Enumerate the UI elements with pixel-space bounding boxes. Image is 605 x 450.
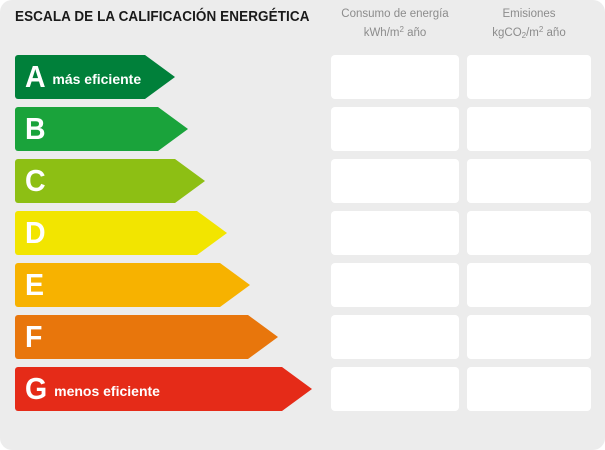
rating-band-g: Gmenos eficiente	[15, 367, 282, 411]
consumo-value-cell-g[interactable]	[331, 367, 459, 411]
consumo-value-cell-c[interactable]	[331, 159, 459, 203]
consumo-value-cell-e[interactable]	[331, 263, 459, 307]
rating-band-a: Amás eficiente	[15, 55, 145, 99]
rating-row-e: E	[0, 263, 605, 307]
rating-letter-c: C	[25, 165, 46, 196]
rating-band-c: C	[15, 159, 175, 203]
arrow-tip-icon-g	[282, 367, 312, 411]
rating-band-e: E	[15, 263, 220, 307]
consumo-value-cell-d[interactable]	[331, 211, 459, 255]
column-header-consumo-unit: kWh/m2 año	[331, 22, 459, 41]
emisiones-value-cell-e[interactable]	[467, 263, 591, 307]
rating-letter-a: A	[25, 61, 46, 92]
rating-row-b: B	[0, 107, 605, 151]
emisiones-value-cell-d[interactable]	[467, 211, 591, 255]
emisiones-value-cell-a[interactable]	[467, 55, 591, 99]
consumo-value-cell-b[interactable]	[331, 107, 459, 151]
emisiones-value-cell-g[interactable]	[467, 367, 591, 411]
arrow-tip-icon-f	[248, 315, 278, 359]
arrow-tip-icon-b	[158, 107, 188, 151]
rating-letter-d: D	[25, 217, 46, 248]
column-header-emisiones: Emisiones kgCO2/m2 año	[467, 7, 591, 43]
rating-letter-b: B	[25, 113, 46, 144]
rating-letter-g: G	[25, 373, 47, 404]
efficiency-label-a: más eficiente	[52, 71, 141, 87]
consumo-value-cell-f[interactable]	[331, 315, 459, 359]
rating-row-d: D	[0, 211, 605, 255]
arrow-tip-icon-d	[197, 211, 227, 255]
column-header-emisiones-unit: kgCO2/m2 año	[467, 22, 591, 43]
column-header-consumo-line1: Consumo de energía	[341, 8, 448, 20]
efficiency-label-g: menos eficiente	[54, 383, 160, 399]
rating-row-a: Amás eficiente	[0, 55, 605, 99]
rating-letter-e: E	[25, 269, 44, 300]
arrow-tip-icon-c	[175, 159, 205, 203]
arrow-tip-icon-a	[145, 55, 175, 99]
rating-row-g: Gmenos eficiente	[0, 367, 605, 411]
column-header-emisiones-line1: Emisiones	[502, 8, 555, 20]
rating-band-d: D	[15, 211, 197, 255]
rating-band-f: F	[15, 315, 248, 359]
energy-rating-panel: ESCALA DE LA CALIFICACIÓN ENERGÉTICA Con…	[0, 0, 605, 450]
emisiones-value-cell-b[interactable]	[467, 107, 591, 151]
consumo-value-cell-a[interactable]	[331, 55, 459, 99]
emisiones-value-cell-c[interactable]	[467, 159, 591, 203]
rating-row-f: F	[0, 315, 605, 359]
arrow-tip-icon-e	[220, 263, 250, 307]
column-header-consumo: Consumo de energía kWh/m2 año	[331, 7, 459, 41]
rating-row-c: C	[0, 159, 605, 203]
rating-band-b: B	[15, 107, 158, 151]
emisiones-value-cell-f[interactable]	[467, 315, 591, 359]
page-title: ESCALA DE LA CALIFICACIÓN ENERGÉTICA	[15, 9, 310, 25]
rating-letter-f: F	[25, 321, 42, 352]
